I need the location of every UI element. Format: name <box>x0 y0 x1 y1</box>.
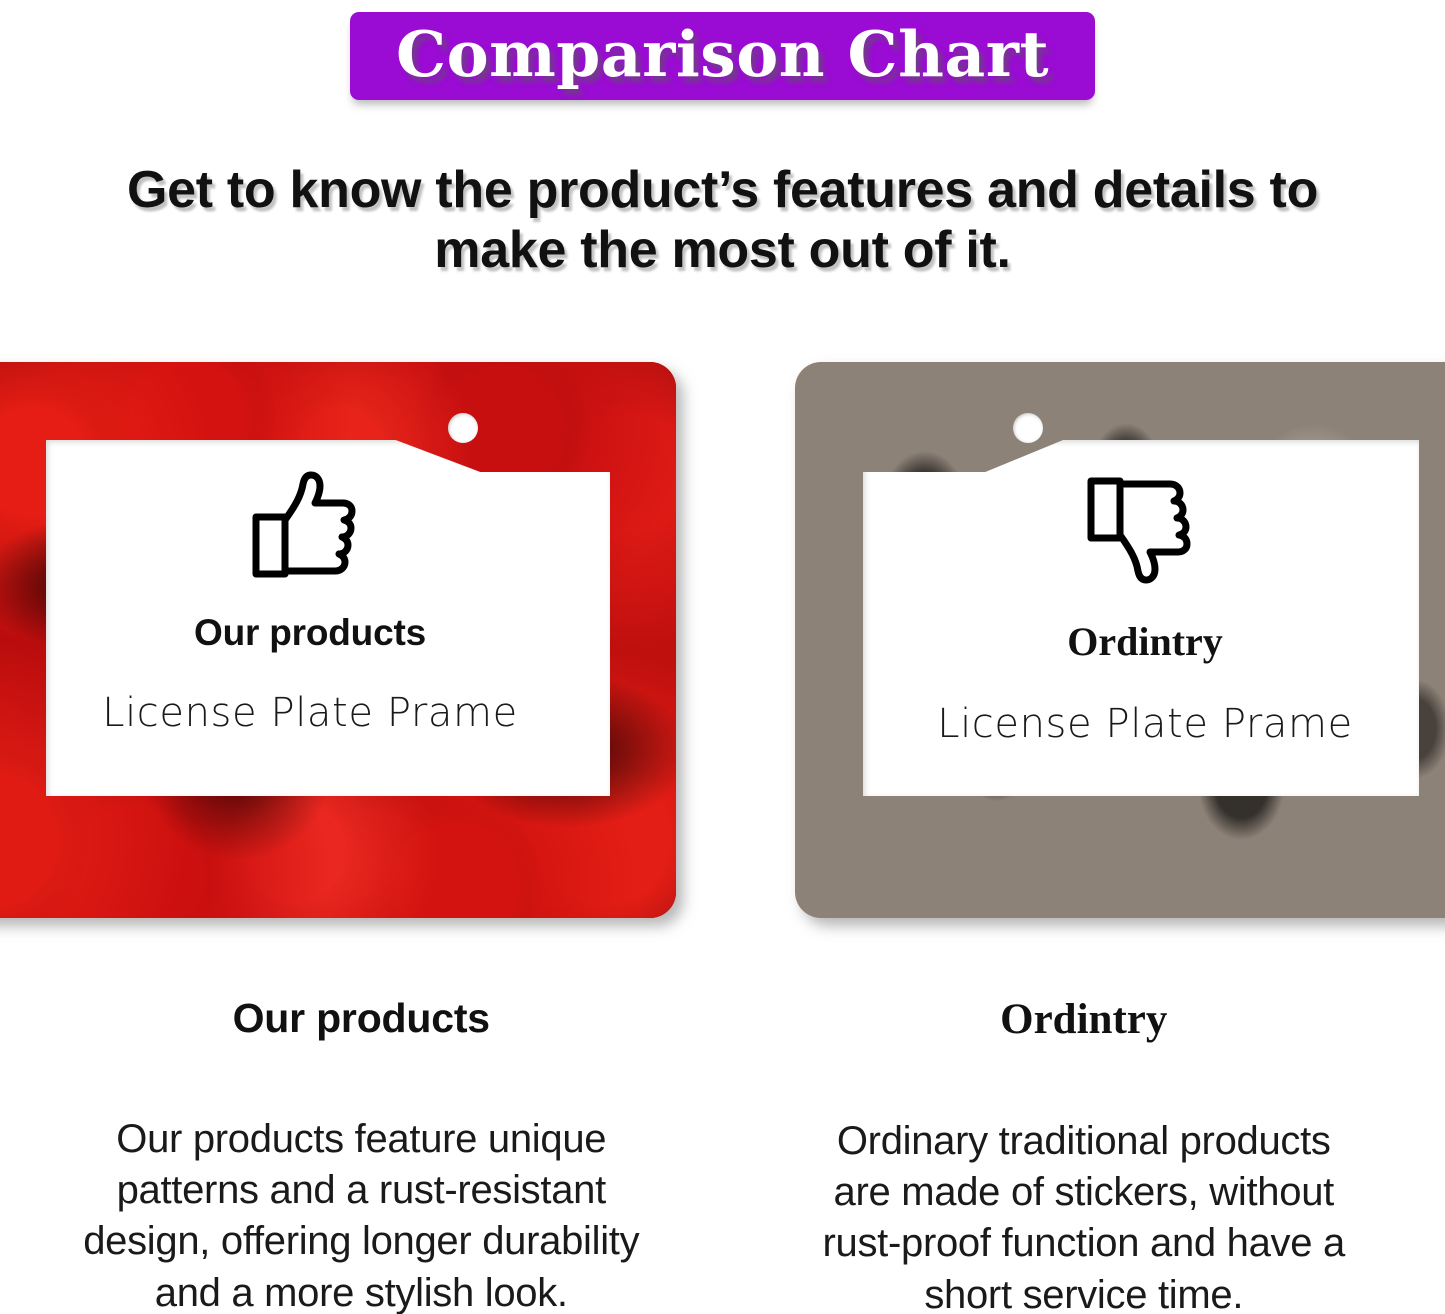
mounting-hole-icon-right <box>1013 413 1043 443</box>
our-product-section-body: Our products feature unique patterns and… <box>24 1114 699 1314</box>
thumbs-up-icon <box>251 470 369 582</box>
our-product-plate-title: Our products <box>194 612 426 654</box>
our-product-plate-subtitle: License Plate Prame <box>102 690 518 736</box>
ordinary-plate-subtitle: License Plate Prame <box>937 701 1353 747</box>
bottom-descriptions: Our products Our products feature unique… <box>0 995 1445 1314</box>
our-product-section-heading: Our products <box>24 995 699 1042</box>
our-product-description-column: Our products Our products feature unique… <box>0 995 723 1314</box>
comparison-chart-page: Comparison Chart Get to know the product… <box>0 0 1445 1314</box>
ordinary-section-heading: Ordintry <box>747 995 1422 1044</box>
title-banner: Comparison Chart <box>350 12 1095 100</box>
our-product-plate-content: Our products License Plate Prame <box>0 470 620 736</box>
ordinary-plate-content: Ordintry License Plate Prame <box>845 470 1445 747</box>
title-banner-container: Comparison Chart <box>0 12 1445 100</box>
ordinary-plate-title: Ordintry <box>1067 618 1223 665</box>
page-subtitle: Get to know the product’s features and d… <box>0 160 1445 281</box>
page-title: Comparison Chart <box>396 21 1049 87</box>
ordinary-description-column: Ordintry Ordinary traditional products a… <box>723 995 1445 1314</box>
mounting-hole-icon-left <box>448 413 478 443</box>
ordinary-section-body: Ordinary traditional products are made o… <box>747 1116 1422 1314</box>
thumbs-down-icon <box>1086 470 1204 588</box>
